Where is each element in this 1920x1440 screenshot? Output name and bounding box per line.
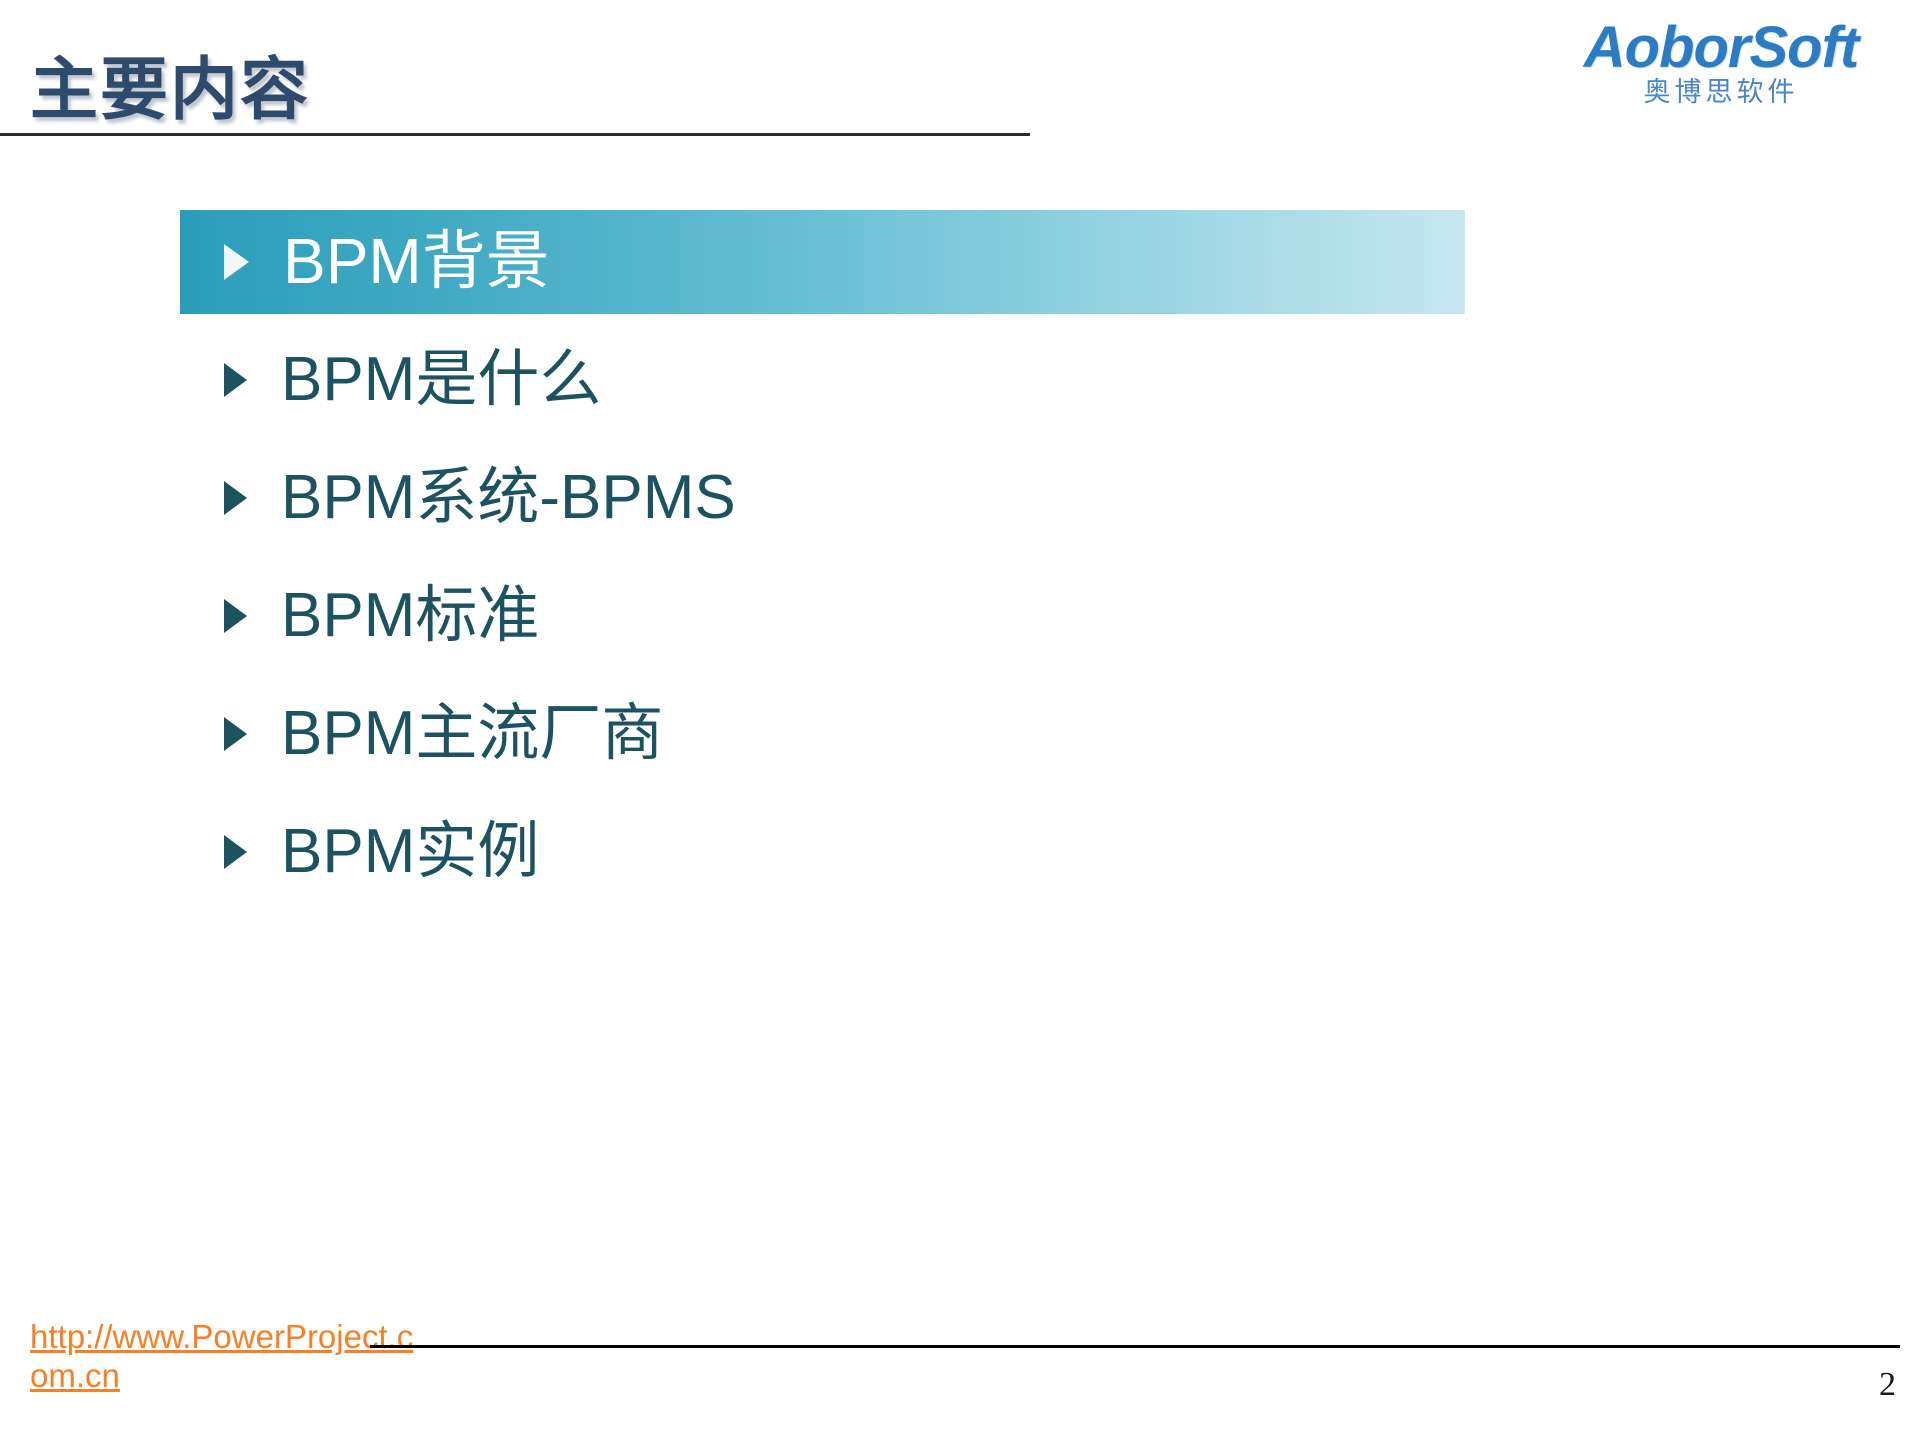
logo-subtitle: 奥博思软件 bbox=[1546, 78, 1896, 106]
triangle-right-icon bbox=[224, 599, 247, 633]
footer-url-link[interactable]: http://www.PowerProject.com.cn bbox=[30, 1318, 430, 1396]
triangle-right-icon bbox=[224, 481, 247, 515]
page-number: 2 bbox=[1879, 1366, 1896, 1404]
triangle-right-icon bbox=[224, 244, 249, 280]
agenda-item-bpm-background[interactable]: BPM背景 bbox=[180, 210, 1465, 314]
agenda-item-label: BPM标准 bbox=[281, 583, 539, 648]
slide: 主要内容 AoborSoft 奥博思软件 BPM背景 BPM是什么 BPM系统-… bbox=[0, 0, 1920, 1440]
triangle-right-icon bbox=[224, 363, 247, 397]
footer-divider bbox=[370, 1345, 1900, 1348]
agenda-item-bpm-examples[interactable]: BPM实例 bbox=[0, 800, 1920, 904]
agenda-item-label: BPM实例 bbox=[281, 819, 539, 884]
agenda-item-bpm-what-is[interactable]: BPM是什么 bbox=[0, 328, 1920, 432]
agenda-item-bpm-system[interactable]: BPM系统-BPMS bbox=[0, 446, 1920, 550]
title-divider bbox=[0, 133, 1030, 136]
agenda-list: BPM背景 BPM是什么 BPM系统-BPMS BPM标准 BPM主流厂商 BP… bbox=[0, 210, 1920, 918]
triangle-right-icon bbox=[224, 717, 247, 751]
agenda-item-label: BPM系统-BPMS bbox=[281, 465, 736, 530]
agenda-item-label: BPM是什么 bbox=[281, 347, 601, 412]
agenda-item-label: BPM主流厂商 bbox=[281, 701, 663, 766]
logo: AoborSoft 奥博思软件 bbox=[1546, 18, 1896, 107]
logo-wordmark: AoborSoft bbox=[1546, 18, 1896, 77]
agenda-item-label: BPM背景 bbox=[283, 228, 550, 295]
page-title: 主要内容 bbox=[30, 56, 310, 124]
agenda-item-bpm-standards[interactable]: BPM标准 bbox=[0, 564, 1920, 668]
agenda-item-bpm-vendors[interactable]: BPM主流厂商 bbox=[0, 682, 1920, 786]
triangle-right-icon bbox=[224, 835, 247, 869]
